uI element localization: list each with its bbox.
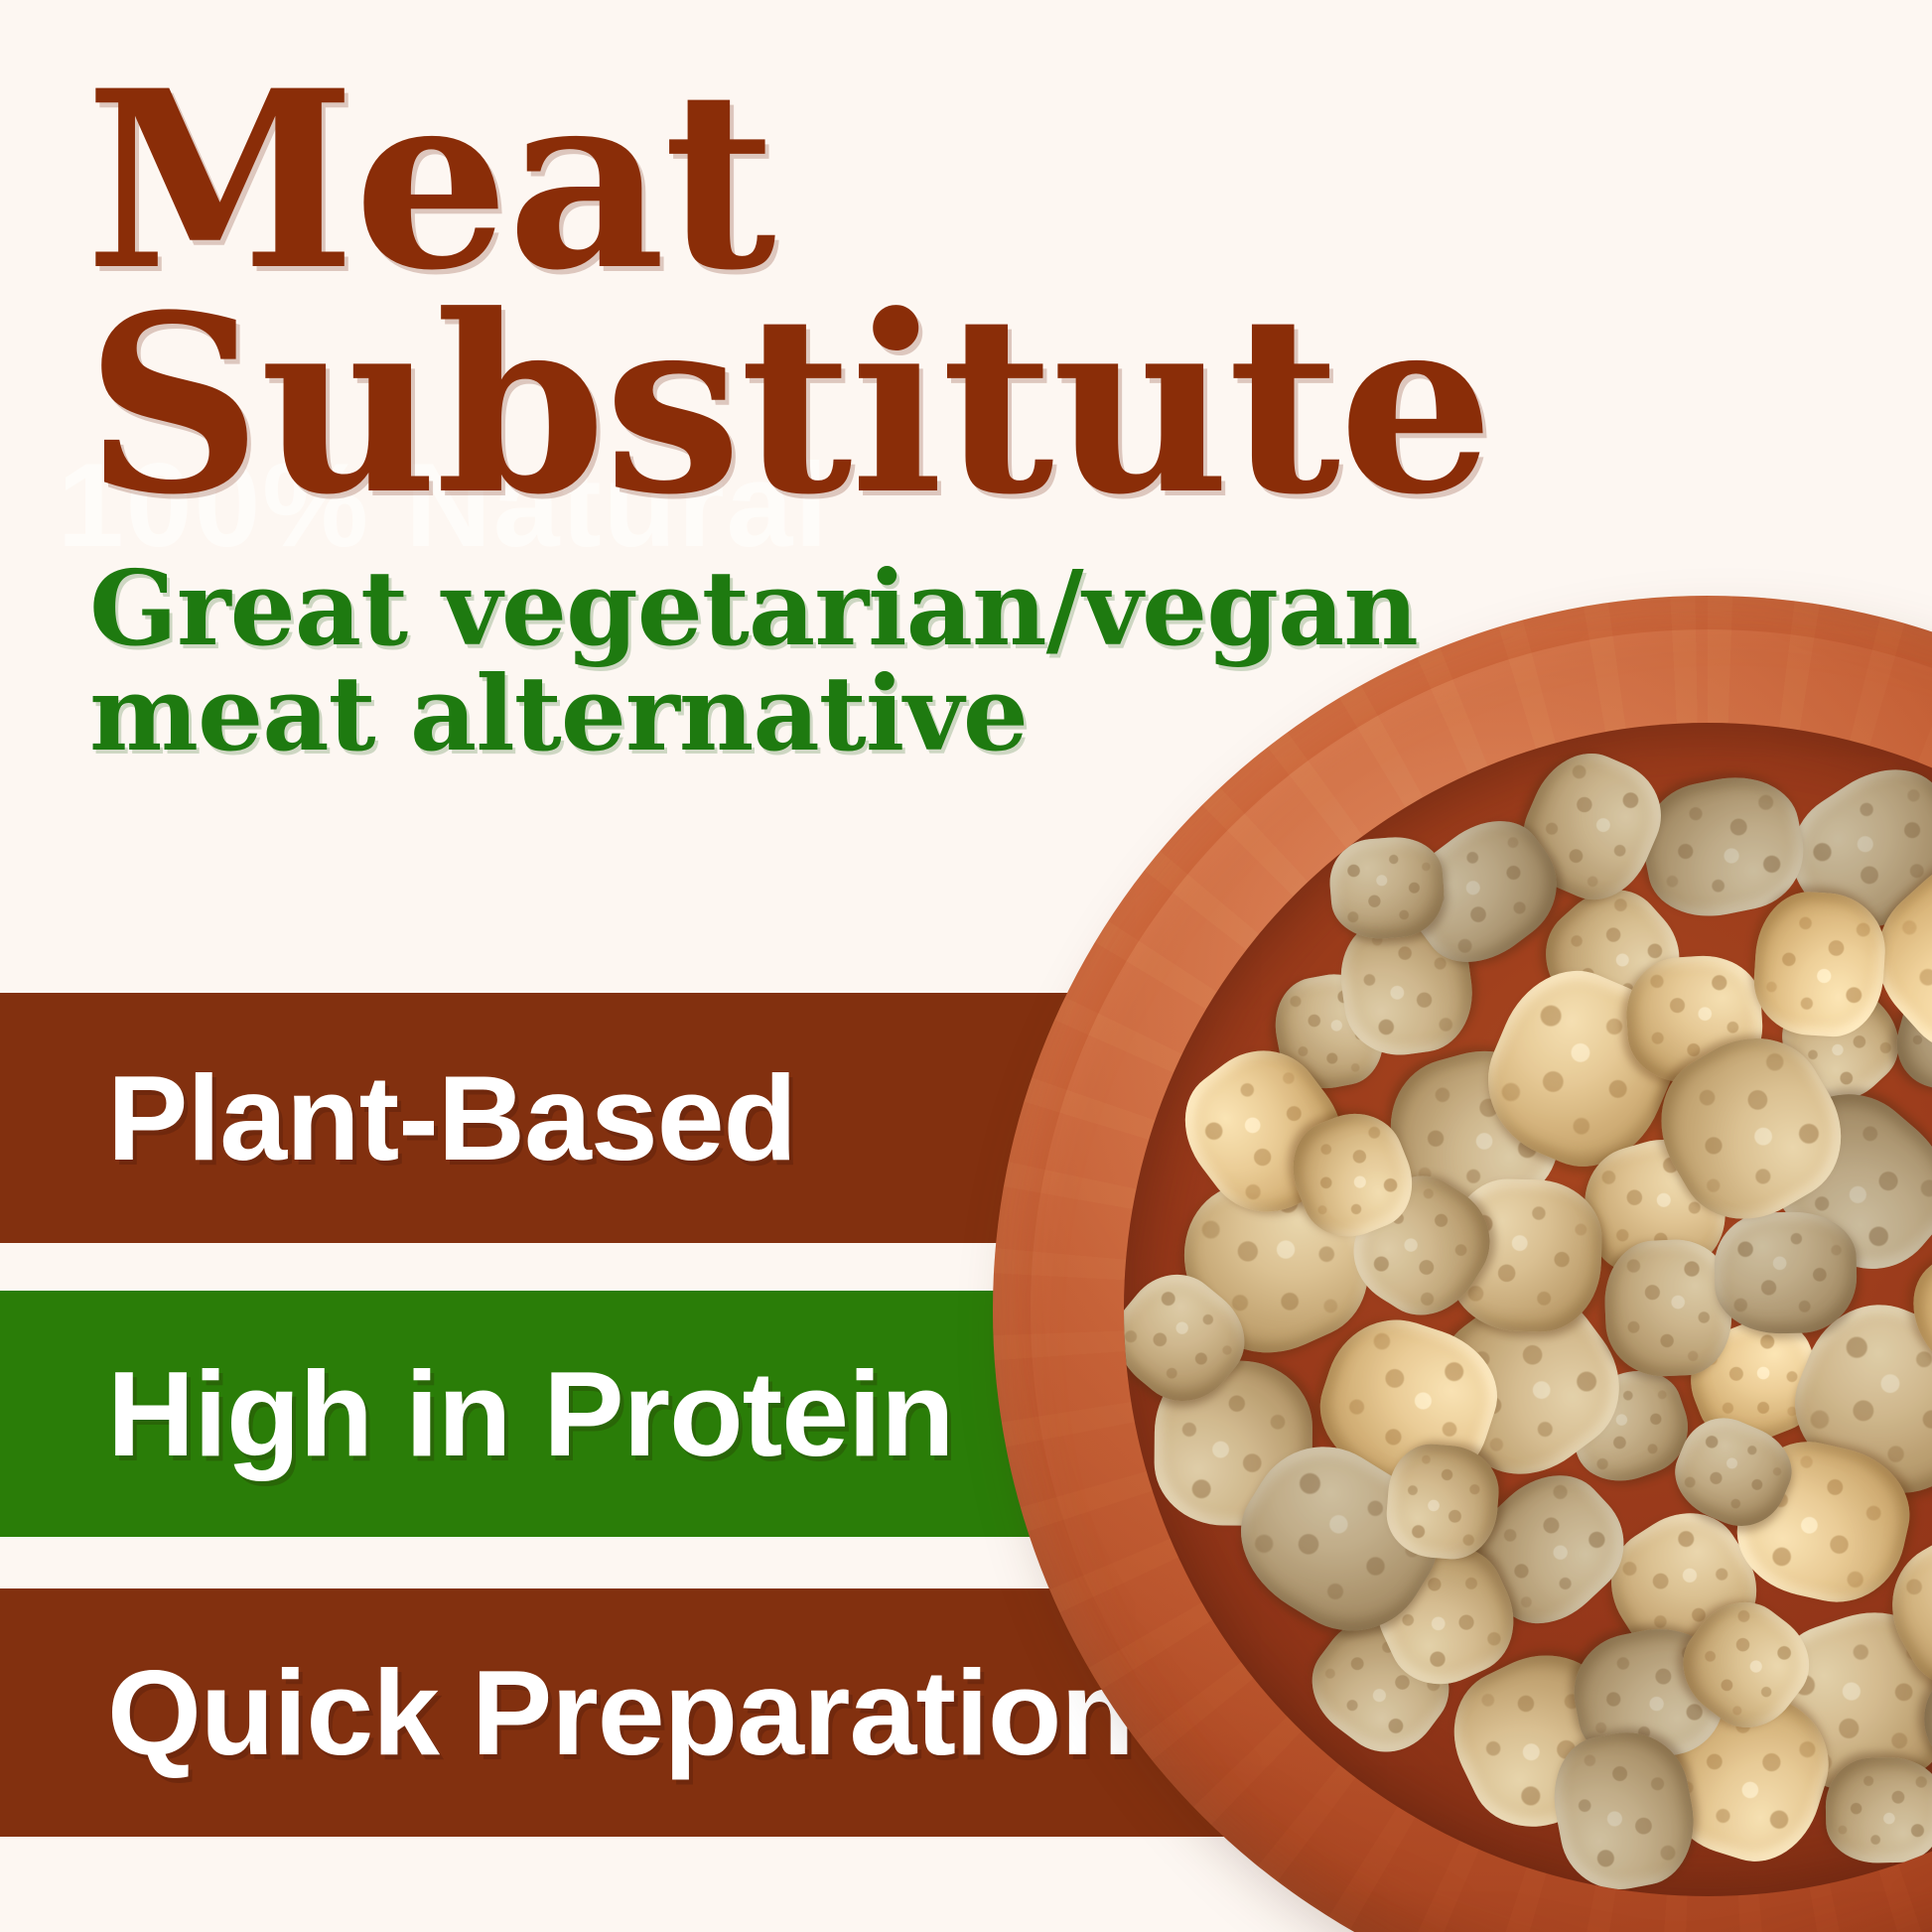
headline-line-1: Meat — [85, 69, 1495, 294]
feature-band-label-high-in-protein: High in Protein — [0, 1353, 954, 1474]
subtitle-block: Great vegetarian/vegan meat alternative — [89, 556, 1499, 766]
feature-band-quick-preparation: Quick Preparation — [0, 1588, 1410, 1837]
feature-band-high-in-protein: High in Protein — [0, 1291, 1410, 1537]
subtitle-line-2: meat alternative — [89, 661, 1499, 766]
product-feature-poster: 100% Natural Meat Substitute Great veget… — [0, 0, 1932, 1932]
feature-band-label-plant-based: Plant-Based — [0, 1057, 796, 1178]
headline-block: Meat Substitute — [85, 69, 1495, 519]
feature-band-label-quick-preparation: Quick Preparation — [0, 1652, 1134, 1773]
subtitle-line-1: Great vegetarian/vegan — [89, 556, 1499, 661]
feature-band-plant-based: Plant-Based — [0, 993, 1410, 1243]
headline-line-2: Substitute — [85, 294, 1495, 518]
